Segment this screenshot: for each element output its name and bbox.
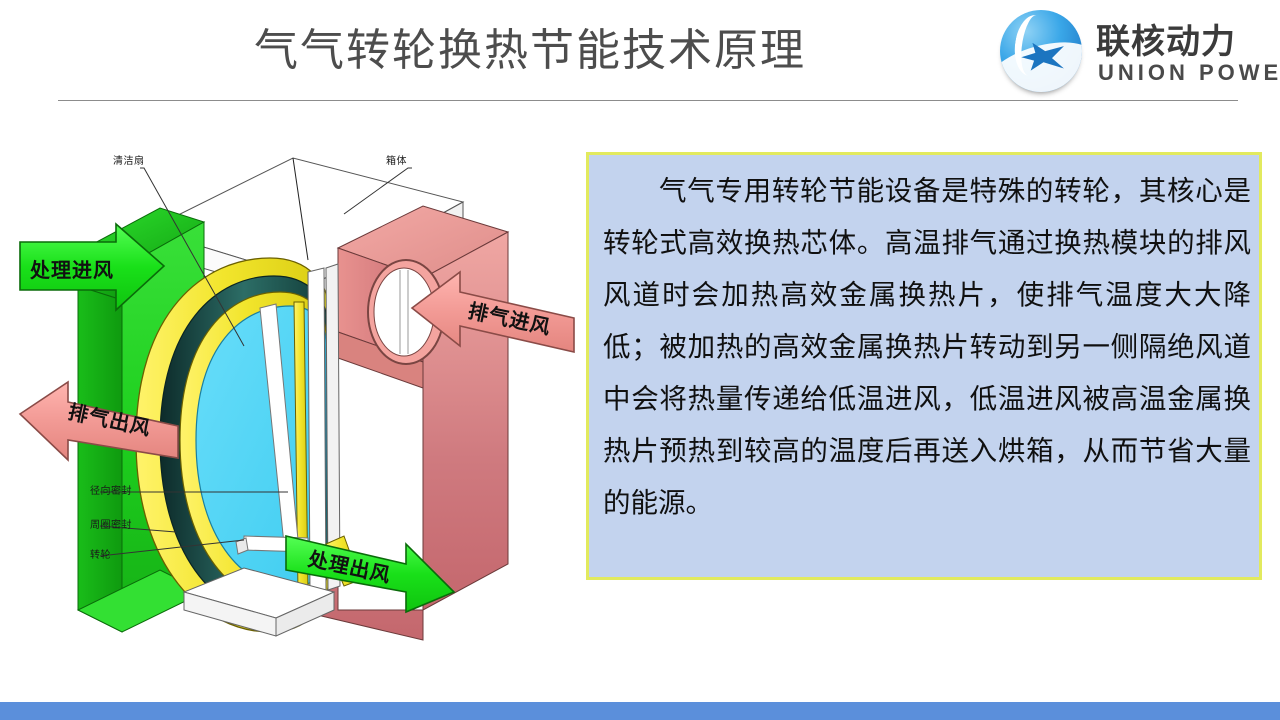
globe-swoosh-star-icon — [1000, 10, 1082, 92]
description-paragraph: 气气专用转轮节能设备是特殊的转轮，其核心是转轮式高效换热芯体。高温排气通过换热模… — [603, 165, 1251, 529]
callout-label-circumferential-seal: 周圈密封 — [90, 516, 132, 531]
callout-label-cabinet: 箱体 — [386, 152, 407, 167]
description-panel: 气气专用转轮节能设备是特殊的转轮，其核心是转轮式高效换热芯体。高温排气通过换热模… — [586, 152, 1262, 580]
arrow-label-process-inlet: 处理进风 — [30, 254, 114, 283]
logo-english-name: UNION POWER — [1098, 60, 1280, 86]
page-title: 气气转轮换热节能技术原理 — [140, 16, 920, 86]
header-divider — [58, 100, 1238, 101]
footer-accent-bar — [0, 702, 1280, 720]
callout-label-rotor: 转轮 — [90, 546, 111, 561]
slide-canvas: 气气转轮换热节能技术原理 联核动力 UNION POWER — [0, 0, 1280, 720]
company-logo: 联核动力 UNION POWER — [1000, 8, 1270, 96]
logo-chinese-name: 联核动力 — [1096, 14, 1236, 63]
rotary-heat-exchanger-diagram: 清洁扇 箱体 径向密封 周圈密封 转轮 处理进风 排气进风 排气出风 处理出风 — [8, 140, 588, 660]
callout-label-radial-seal: 径向密封 — [90, 482, 132, 497]
callout-label-clean-fan: 清洁扇 — [113, 152, 145, 167]
